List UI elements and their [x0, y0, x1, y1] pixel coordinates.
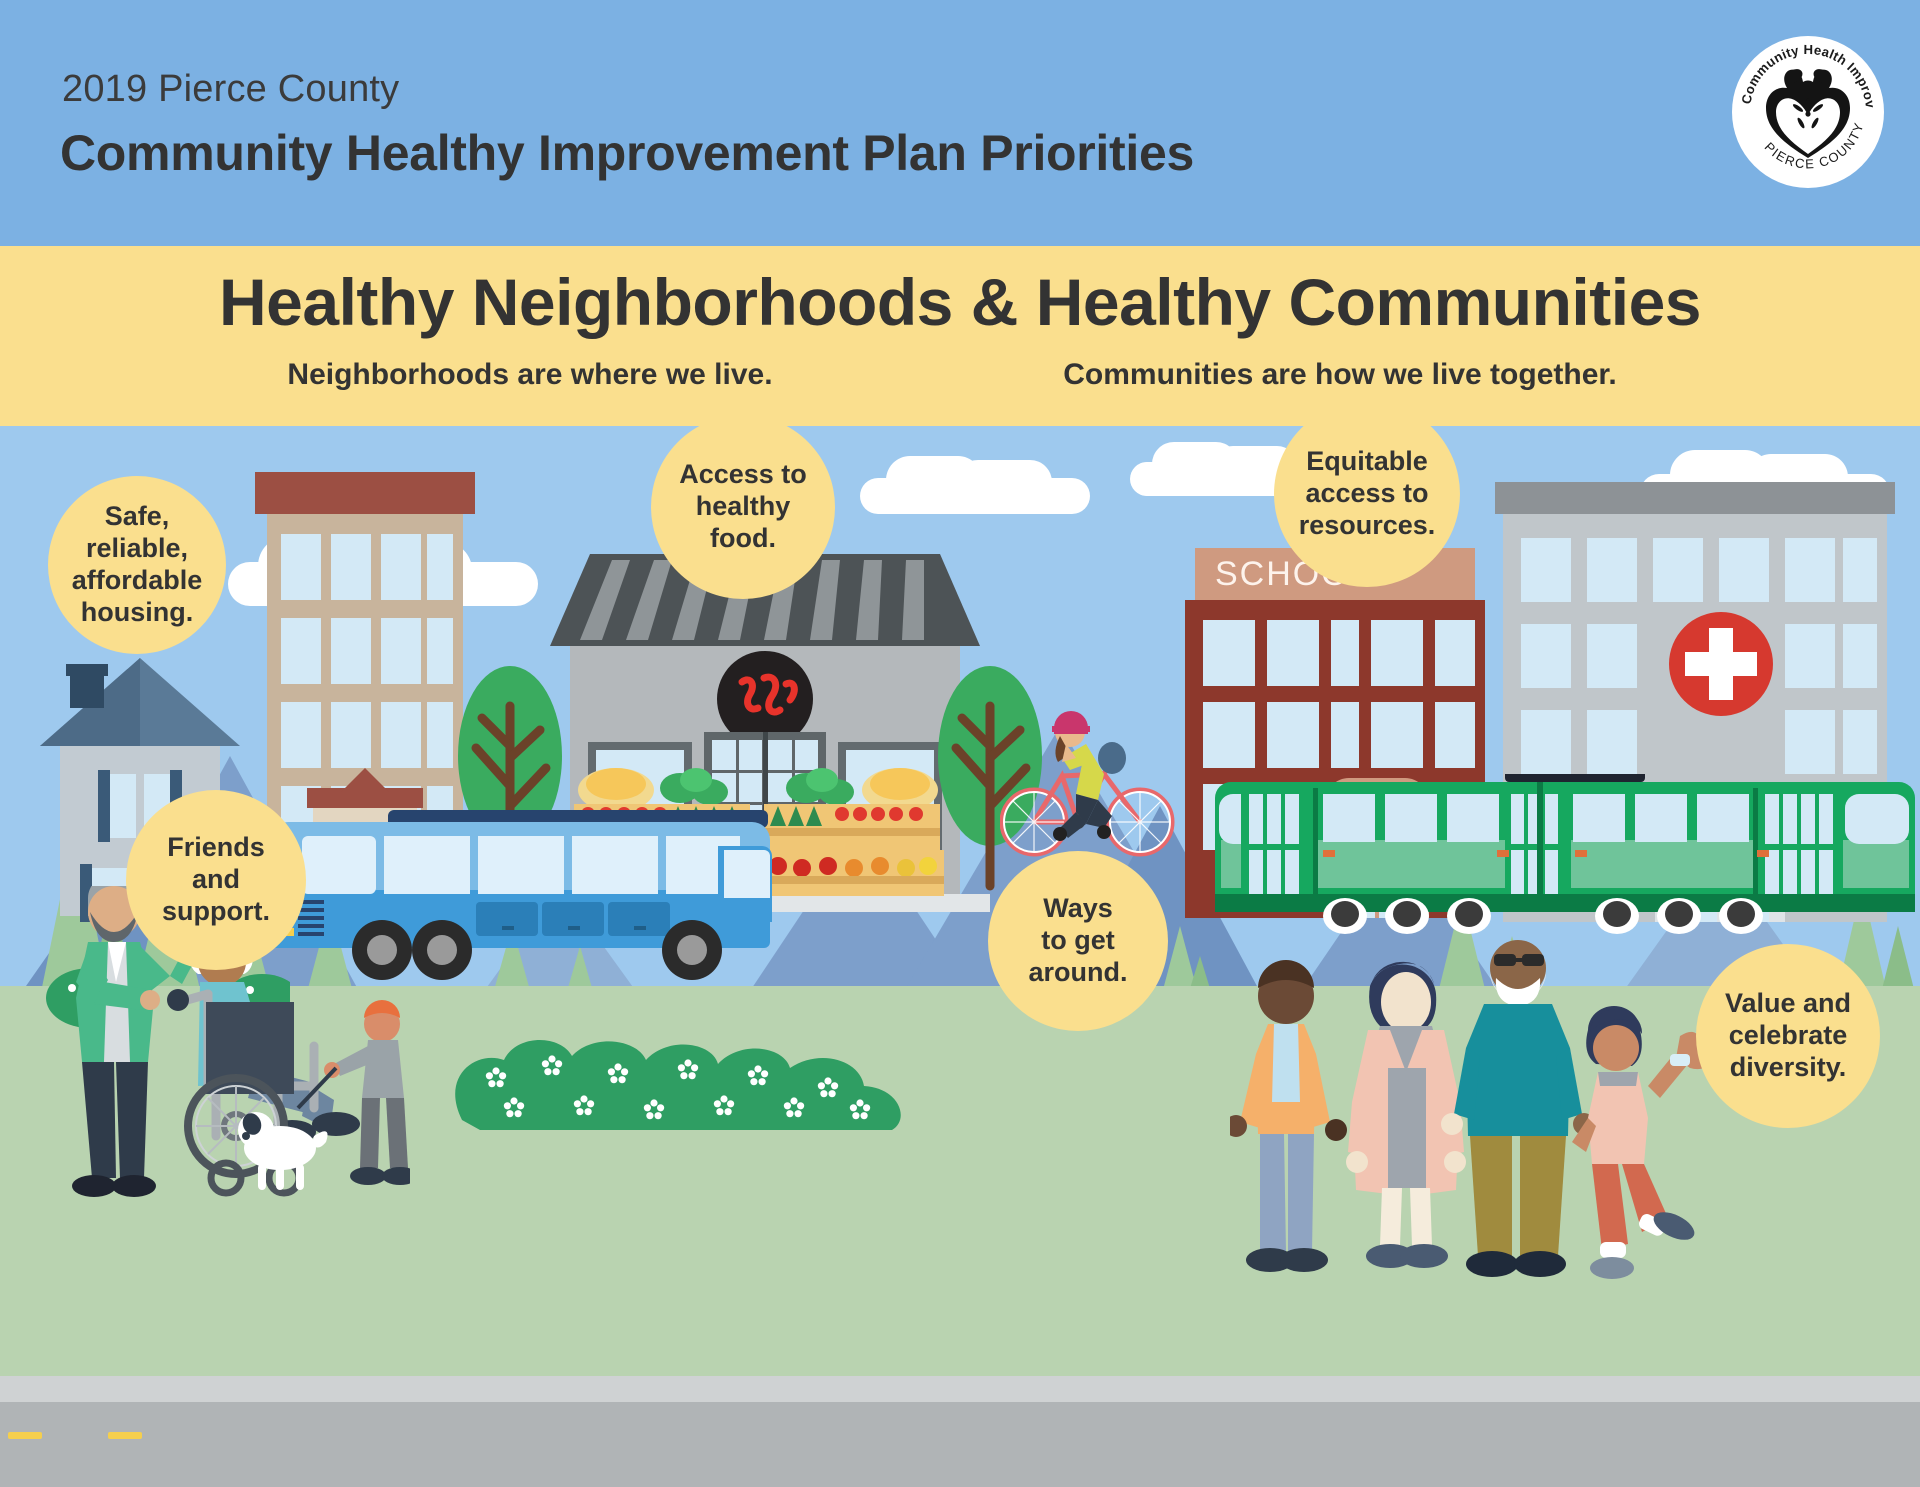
senior-man-with-mask [1441, 940, 1595, 1277]
chip-logo-svg: Community Health Improvement Plan PIERCE… [1732, 36, 1884, 188]
priority-bubble-food-label: Access to healthy food. [679, 459, 807, 555]
page-title: Community Healthy Improvement Plan Prior… [60, 124, 1194, 182]
priority-bubble-housing-label: Safe, reliable, affordable housing. [72, 501, 203, 628]
sidewalk-upper [0, 1376, 1920, 1402]
priority-bubble-housing[interactable]: Safe, reliable, affordable housing. [48, 476, 226, 654]
flower-hedge [440, 1016, 940, 1146]
man-orange-jacket [1230, 960, 1347, 1272]
street [0, 1402, 1920, 1487]
cyclist-with-helmet [1000, 666, 1190, 866]
diverse-family-group [1230, 926, 1710, 1326]
header-eyebrow: 2019 Pierce County [62, 68, 399, 111]
priority-bubble-transport-label: Ways to get around. [1029, 893, 1128, 989]
banner-caption-left: Neighborhoods are where we live. [160, 358, 900, 392]
priority-bubble-equity-label: Equitable access to resources. [1299, 446, 1436, 542]
medical-cross-icon [1667, 610, 1775, 718]
child-with-dog [324, 1000, 410, 1185]
poster-header: 2019 Pierce County Community Healthy Imp… [0, 0, 1920, 246]
priority-bubble-friends[interactable]: Friends and support. [126, 790, 306, 970]
banner-title: Healthy Neighborhoods & Healthy Communit… [0, 264, 1920, 340]
produce-stand-right [760, 756, 950, 916]
girl-waving [1572, 1006, 1710, 1279]
chip-logo: Community Health Improvement Plan PIERCE… [1732, 36, 1884, 188]
priority-banner: Healthy Neighborhoods & Healthy Communit… [0, 246, 1920, 426]
priority-bubble-friends-label: Friends and support. [162, 832, 270, 928]
priority-bubble-transport[interactable]: Ways to get around. [988, 851, 1168, 1031]
banner-caption-right: Communities are how we live together. [900, 358, 1780, 392]
illustration-scene: SCHOOL [0, 426, 1920, 1487]
infographic-poster: 2019 Pierce County Community Healthy Imp… [0, 0, 1920, 1487]
priority-bubble-diversity[interactable]: Value and celebrate diversity. [1696, 944, 1880, 1128]
priority-bubble-diversity-label: Value and celebrate diversity. [1725, 988, 1851, 1084]
